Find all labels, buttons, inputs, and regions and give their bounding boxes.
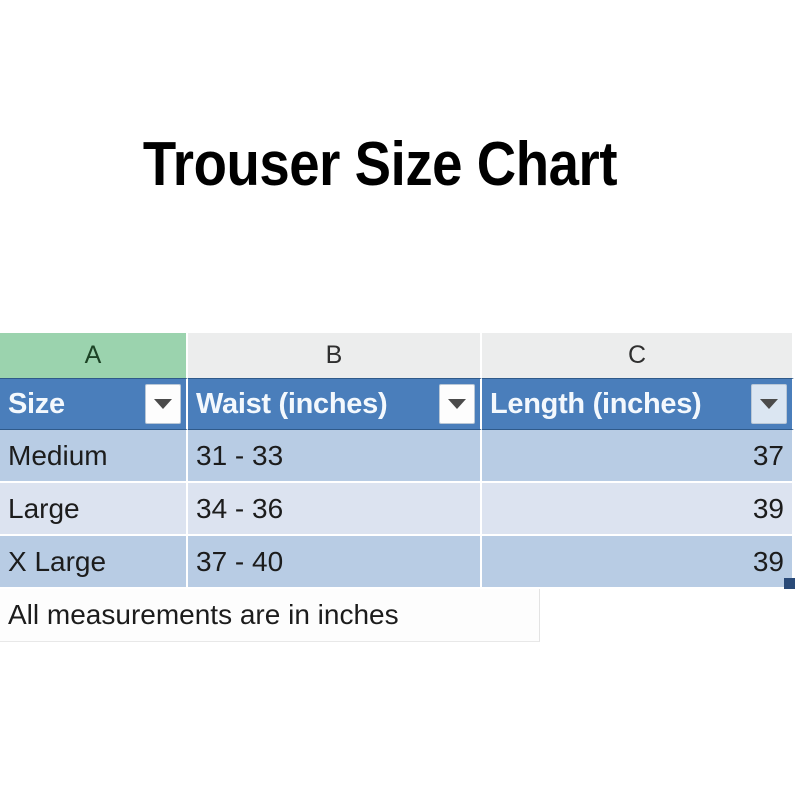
chevron-down-icon	[760, 399, 778, 409]
header-label-length: Length (inches)	[490, 388, 701, 421]
header-label-size: Size	[8, 388, 65, 421]
filter-dropdown-length[interactable]	[751, 384, 787, 424]
column-letter-row: A B C	[0, 333, 794, 378]
cell-length[interactable]: 37	[482, 430, 794, 483]
filter-dropdown-waist[interactable]	[439, 384, 475, 424]
chevron-down-icon	[448, 399, 466, 409]
header-cell-length: Length (inches)	[482, 378, 794, 430]
header-cell-size: Size	[0, 378, 188, 430]
cell-waist[interactable]: 31 - 33	[188, 430, 482, 483]
cell-size[interactable]: Large	[0, 483, 188, 536]
filter-dropdown-size[interactable]	[145, 384, 181, 424]
note-text[interactable]: All measurements are in inches	[0, 589, 540, 642]
chevron-down-icon	[154, 399, 172, 409]
table-resize-handle[interactable]	[784, 578, 795, 589]
column-header-a[interactable]: A	[0, 333, 188, 378]
table-row[interactable]: Medium 31 - 33 37	[0, 430, 794, 483]
cell-length[interactable]: 39	[482, 536, 794, 589]
header-label-waist: Waist (inches)	[196, 388, 387, 421]
table-row[interactable]: Large 34 - 36 39	[0, 483, 794, 536]
cell-waist[interactable]: 34 - 36	[188, 483, 482, 536]
cell-size[interactable]: X Large	[0, 536, 188, 589]
page-title: Trouser Size Chart	[46, 126, 715, 204]
table-note-row[interactable]: All measurements are in inches	[0, 589, 794, 642]
cell-size[interactable]: Medium	[0, 430, 188, 483]
table-row[interactable]: X Large 37 - 40 39	[0, 536, 794, 589]
column-header-c[interactable]: C	[482, 333, 794, 378]
cell-length[interactable]: 39	[482, 483, 794, 536]
table-header-row: Size Waist (inches) Length (inches)	[0, 378, 794, 430]
size-chart-table: A B C Size Waist (inches) Length (inches…	[0, 333, 794, 642]
header-cell-waist: Waist (inches)	[188, 378, 482, 430]
column-header-b[interactable]: B	[188, 333, 482, 378]
cell-waist[interactable]: 37 - 40	[188, 536, 482, 589]
